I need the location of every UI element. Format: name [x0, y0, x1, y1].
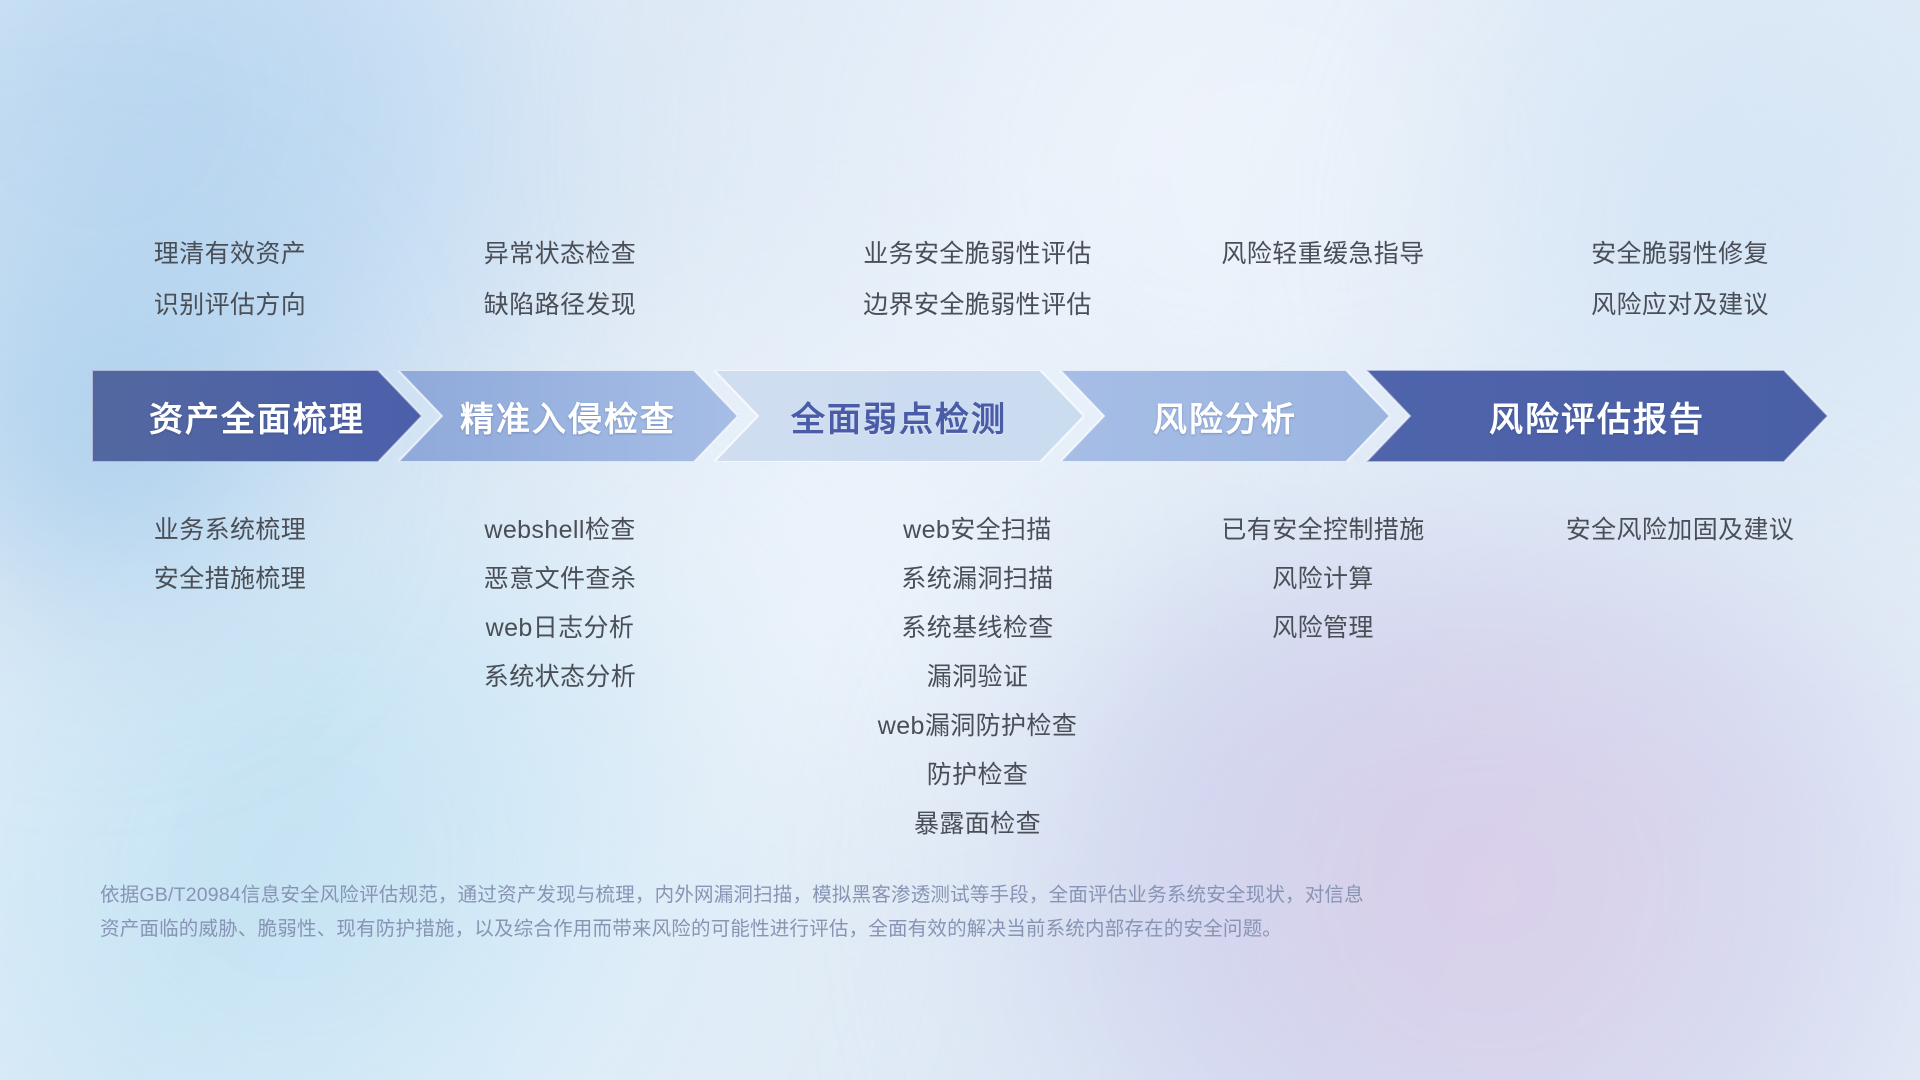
- list-item: 安全脆弱性修复: [1440, 242, 1920, 267]
- stage-2-arrow[interactable]: 精准入侵检查: [398, 370, 738, 462]
- list-item: 边界安全脆弱性评估: [715, 293, 1240, 318]
- footer-line-1: 依据GB/T20984信息安全风险评估规范，通过资产发现与梳理，内外网漏洞扫描，…: [100, 878, 1660, 912]
- footer-description: 依据GB/T20984信息安全风险评估规范，通过资产发现与梳理，内外网漏洞扫描，…: [100, 878, 1660, 946]
- list-item: 异常状态检查: [340, 242, 780, 267]
- list-item: 防护检查: [715, 763, 1240, 788]
- stage-1-label: 资产全面梳理: [149, 392, 365, 441]
- stage-4-label: 风险分析: [1153, 392, 1297, 441]
- list-item: 缺陷路径发现: [340, 293, 780, 318]
- list-item: 风险应对及建议: [1440, 293, 1920, 318]
- stage-5-arrow[interactable]: 风险评估报告: [1366, 370, 1828, 462]
- stage-5-bottom-list: 安全风险加固及建议: [1440, 518, 1920, 567]
- stage-3-label: 全面弱点检测: [791, 392, 1007, 441]
- list-item: 风险计算: [1063, 567, 1583, 592]
- list-item: web日志分析: [340, 616, 780, 641]
- stage-4-arrow[interactable]: 风险分析: [1060, 370, 1390, 462]
- stage-2-bottom-list: webshell检查 恶意文件查杀 web日志分析 系统状态分析: [340, 518, 780, 714]
- footer-line-2: 资产面临的威胁、脆弱性、现有防护措施，以及综合作用而带来风险的可能性进行评估，全…: [100, 912, 1660, 946]
- stage-2-label: 精准入侵检查: [460, 392, 676, 441]
- list-item: 系统状态分析: [340, 665, 780, 690]
- stage-2-top-list: 异常状态检查 缺陷路径发现: [340, 242, 780, 344]
- list-item: 恶意文件查杀: [340, 567, 780, 592]
- list-item: 安全风险加固及建议: [1440, 518, 1920, 543]
- list-item: webshell检查: [340, 518, 780, 543]
- stage-5-top-list: 安全脆弱性修复 风险应对及建议: [1440, 242, 1920, 344]
- list-item: 风险管理: [1063, 616, 1583, 641]
- stage-arrow-band: 资产全面梳理 精准入侵检查: [0, 370, 1920, 462]
- stage-1-arrow[interactable]: 资产全面梳理: [92, 370, 422, 462]
- list-item: web漏洞防护检查: [715, 714, 1240, 739]
- process-diagram: 理清有效资产 识别评估方向 异常状态检查 缺陷路径发现 业务安全脆弱性评估 边界…: [0, 0, 1920, 1080]
- stage-3-arrow[interactable]: 全面弱点检测: [714, 370, 1084, 462]
- stage-5-label: 风险评估报告: [1489, 392, 1705, 441]
- list-item: 暴露面检查: [715, 812, 1240, 837]
- list-item: 漏洞验证: [715, 665, 1240, 690]
